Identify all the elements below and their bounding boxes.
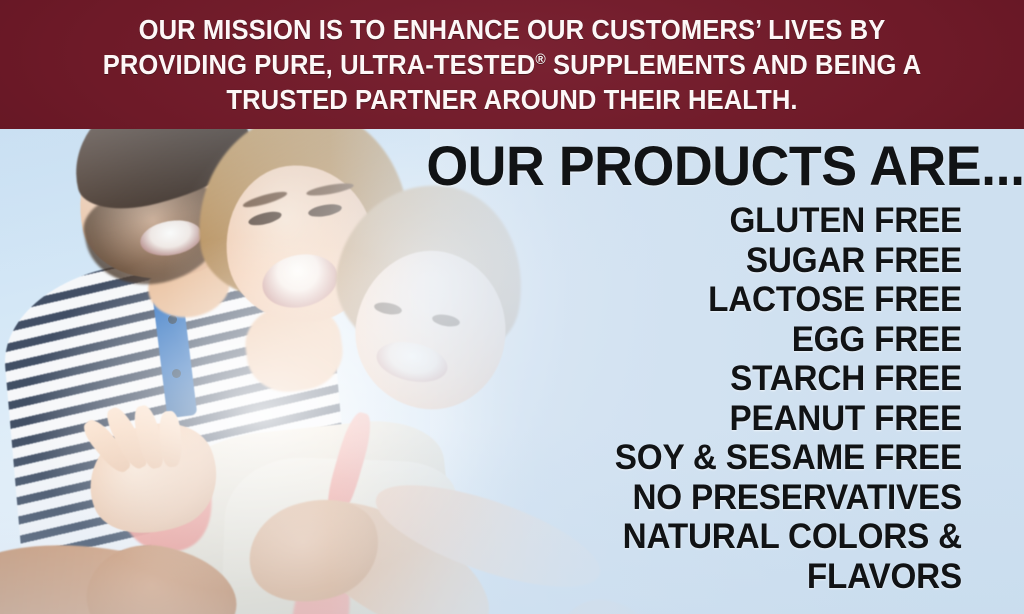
product-claim-item: EGG FREE [432, 320, 962, 360]
mission-statement-text: OUR MISSION IS TO ENHANCE OUR CUSTOMERS’… [66, 12, 959, 117]
product-claim-item: STARCH FREE [432, 359, 962, 399]
product-claim-item: GLUTEN FREE [432, 201, 962, 241]
product-claim-item: NATURAL COLORS & [432, 517, 962, 557]
product-claim-item: FLAVORS [432, 557, 962, 597]
mission-statement-band: OUR MISSION IS TO ENHANCE OUR CUSTOMERS’… [0, 0, 1024, 129]
product-claim-item: SOY & SESAME FREE [432, 438, 962, 478]
product-claim-item: NO PRESERVATIVES [432, 478, 962, 518]
product-claim-item: PEANUT FREE [432, 399, 962, 439]
man-shirt-button-bottom [172, 369, 181, 378]
product-claim-item: LACTOSE FREE [432, 280, 962, 320]
marketing-banner: OUR MISSION IS TO ENHANCE OUR CUSTOMERS’… [0, 0, 1024, 614]
products-heading: OUR PRODUCTS ARE... [426, 129, 962, 195]
product-claims-list: GLUTEN FREESUGAR FREELACTOSE FREEEGG FRE… [404, 201, 962, 596]
product-claim-item: SUGAR FREE [432, 241, 962, 281]
product-claims-panel: OUR PRODUCTS ARE... GLUTEN FREESUGAR FRE… [404, 129, 1024, 614]
registered-trademark-symbol: ® [535, 51, 545, 68]
